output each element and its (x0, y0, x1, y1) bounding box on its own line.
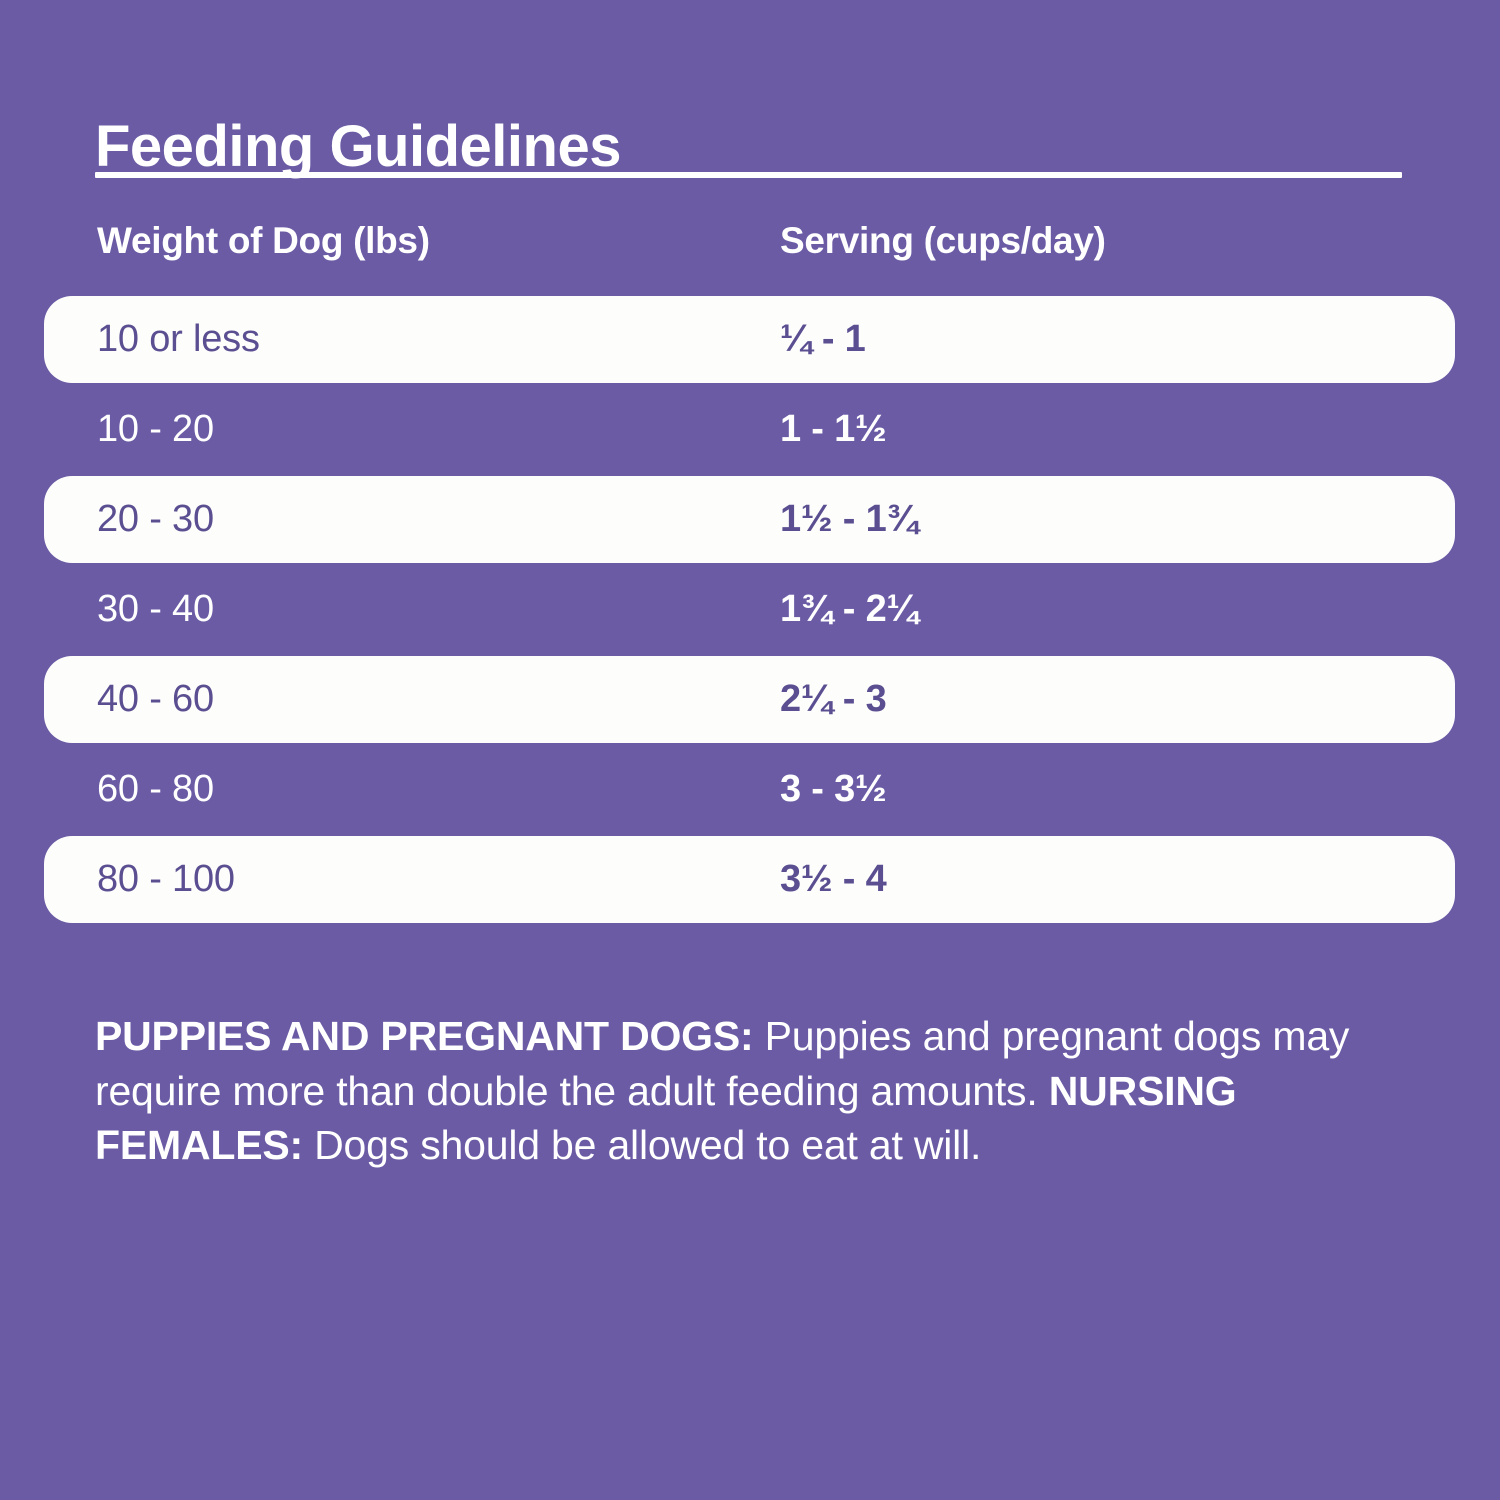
table-row: 10 or less ¼ - 1 (0, 296, 1500, 386)
table-row: 10 - 20 1 - 1½ (0, 386, 1500, 476)
row-background (44, 746, 1455, 833)
cell-serving: 1¾ - 2¼ (780, 566, 918, 653)
cell-weight: 20 - 30 (97, 476, 214, 563)
note-emphasis: PUPPIES AND PREGNANT DOGS: (95, 1013, 753, 1059)
feeding-note: PUPPIES AND PREGNANT DOGS: Puppies and p… (95, 1009, 1425, 1173)
cell-serving: 3½ - 4 (780, 836, 887, 923)
row-background (44, 476, 1455, 563)
page-title: Feeding Guidelines (95, 117, 621, 178)
row-background (44, 836, 1455, 923)
note-text: Dogs should be allowed to eat at will. (303, 1122, 981, 1168)
cell-weight: 30 - 40 (97, 566, 214, 653)
table-column-headers: Weight of Dog (lbs) Serving (cups/day) (0, 220, 1500, 276)
row-background (44, 656, 1455, 743)
table-row: 80 - 100 3½ - 4 (0, 836, 1500, 926)
cell-serving: ¼ - 1 (780, 296, 866, 383)
table-row: 20 - 30 1½ - 1¾ (0, 476, 1500, 566)
cell-weight: 60 - 80 (97, 746, 214, 833)
cell-serving: 1½ - 1¾ (780, 476, 918, 563)
row-background (44, 566, 1455, 653)
cell-serving: 3 - 3½ (780, 746, 887, 833)
column-header-serving: Serving (cups/day) (780, 220, 1106, 262)
title-divider (95, 172, 1402, 178)
table-row: 30 - 40 1¾ - 2¼ (0, 566, 1500, 656)
cell-weight: 40 - 60 (97, 656, 214, 743)
feeding-guidelines-panel: Feeding Guidelines Weight of Dog (lbs) S… (0, 0, 1500, 1500)
cell-weight: 10 or less (97, 296, 260, 383)
row-background (44, 386, 1455, 473)
column-header-weight: Weight of Dog (lbs) (97, 220, 430, 262)
feeding-table: 10 or less ¼ - 1 10 - 20 1 - 1½ 20 - 30 … (0, 296, 1500, 926)
cell-weight: 10 - 20 (97, 386, 214, 473)
table-row: 40 - 60 2¼ - 3 (0, 656, 1500, 746)
cell-weight: 80 - 100 (97, 836, 235, 923)
cell-serving: 1 - 1½ (780, 386, 887, 473)
table-row: 60 - 80 3 - 3½ (0, 746, 1500, 836)
cell-serving: 2¼ - 3 (780, 656, 887, 743)
